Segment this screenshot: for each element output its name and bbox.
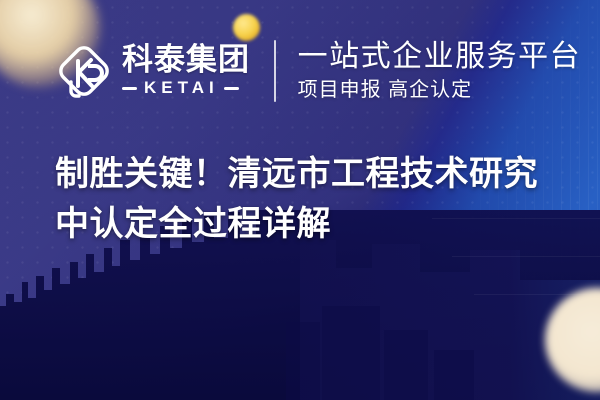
vertical-divider-icon <box>274 40 276 102</box>
gold-sphere-icon <box>233 14 260 41</box>
ketai-diamond-monogram-icon <box>55 42 113 100</box>
brand-name-en: KETAI <box>144 78 219 98</box>
logo-dash-right-icon <box>224 87 239 90</box>
logo-dash-left-icon <box>122 87 137 90</box>
banner-header: 科泰集团 KETAI 一站式企业服务平台 项目申报 高企认定 <box>55 40 581 102</box>
promo-banner: 科泰集团 KETAI 一站式企业服务平台 项目申报 高企认定 制胜关键！清远市工… <box>0 0 600 400</box>
page-title: 制胜关键！清远市工程技术研究中认定全过程详解 <box>55 150 560 249</box>
brand-logo[interactable]: 科泰集团 KETAI <box>55 42 250 100</box>
tagline-sub: 项目申报 高企认定 <box>298 79 582 102</box>
brand-name-cn: 科泰集团 <box>122 44 250 76</box>
brand-tagline: 一站式企业服务平台 项目申报 高企认定 <box>298 40 582 102</box>
brand-name-en-row: KETAI <box>122 78 250 98</box>
tagline-main: 一站式企业服务平台 <box>298 40 582 74</box>
